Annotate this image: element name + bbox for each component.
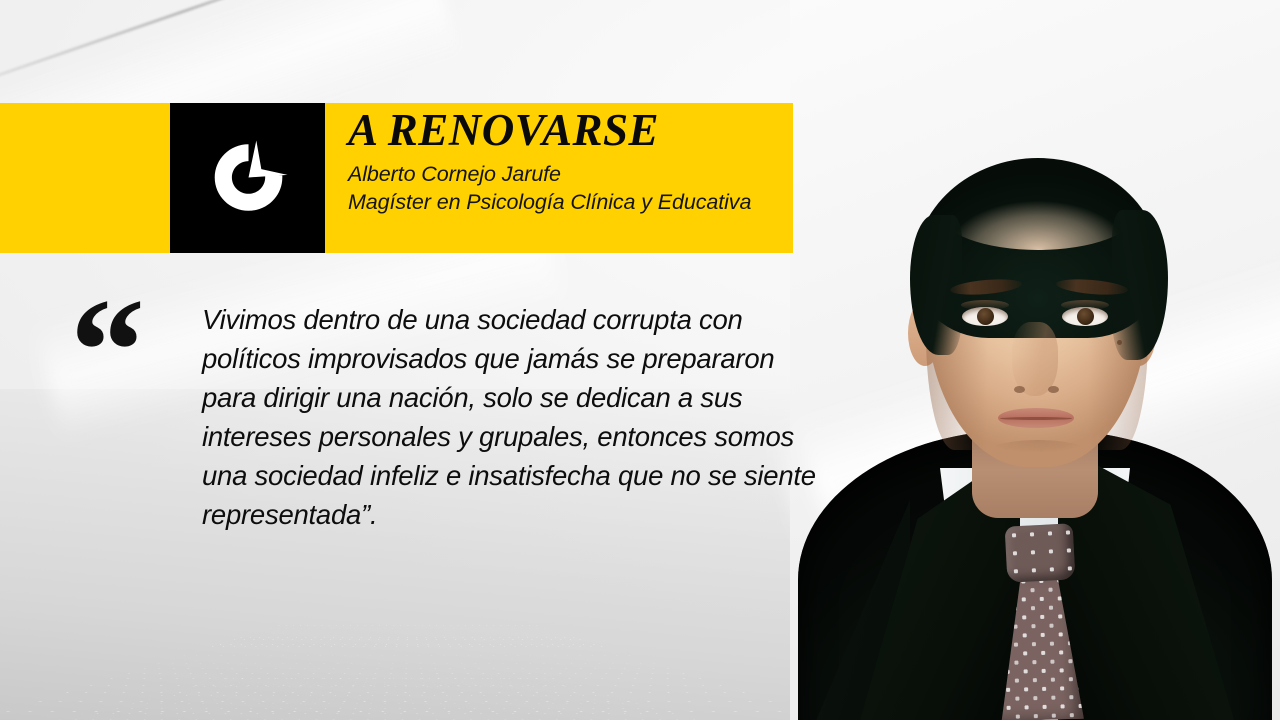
header-text-group: A RENOVARSE Alberto Cornejo Jarufe Magís…: [348, 108, 798, 217]
iris-right: [1077, 308, 1094, 325]
necktie-knot: [1005, 523, 1076, 582]
logo-container: [170, 103, 325, 253]
circular-arrow-renew-icon: [196, 126, 300, 230]
slide-canvas: A RENOVARSE Alberto Cornejo Jarufe Magís…: [0, 0, 1280, 720]
author-name: Alberto Cornejo Jarufe: [348, 160, 798, 188]
open-quote-icon: “: [70, 276, 145, 426]
nostril-left: [1014, 386, 1025, 393]
chin-shadow: [986, 440, 1090, 466]
quote-body: Vivimos dentro de una sociedad corrupta …: [202, 300, 827, 534]
eyelid-right: [1061, 300, 1109, 310]
mouth-line: [1000, 417, 1072, 420]
eyelid-left: [961, 300, 1009, 310]
author-credential: Magíster en Psicología Clínica y Educati…: [348, 188, 798, 216]
nostril-right: [1048, 386, 1059, 393]
page-title: A RENOVARSE: [348, 108, 798, 154]
iris-left: [977, 308, 994, 325]
nose: [1012, 322, 1058, 396]
cheek-mole: [1117, 340, 1122, 345]
portrait-photo: [790, 0, 1280, 720]
forehead-hairline: [940, 176, 1136, 250]
necktie-knot-pattern: [1005, 523, 1076, 582]
